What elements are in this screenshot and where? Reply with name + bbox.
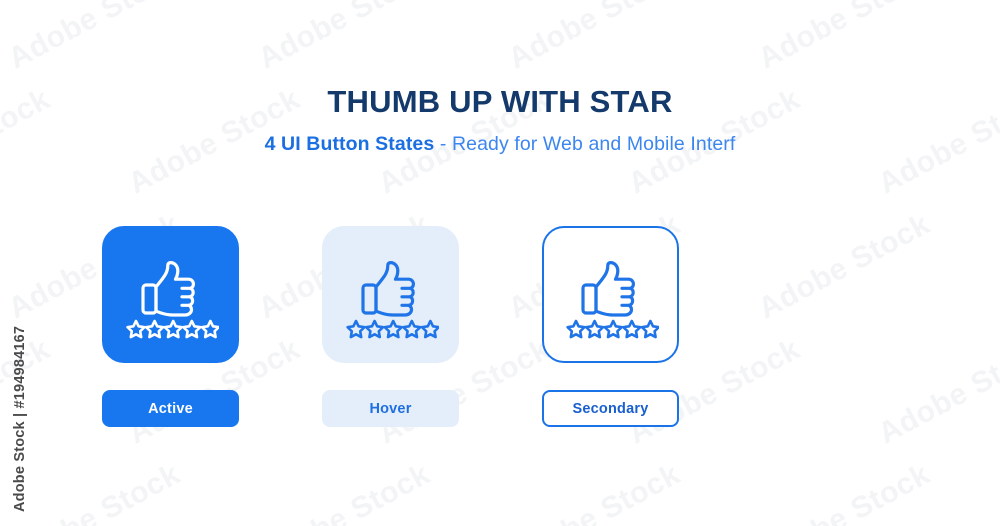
icon-card-hover[interactable]: [322, 226, 459, 363]
subtitle-strong: 4 UI Button States: [265, 133, 435, 155]
thumb-up-with-stars-icon: [343, 249, 439, 341]
state-button-label: Secondary: [573, 401, 649, 417]
state-button-active[interactable]: Active: [102, 390, 239, 427]
page-root: THUMB UP WITH STAR 4 UI Button States - …: [0, 0, 1000, 526]
state-button-label: Active: [148, 401, 193, 417]
state-column-active: Active: [102, 226, 239, 363]
page-title: THUMB UP WITH STAR: [0, 84, 1000, 120]
subtitle-rest: - Ready for Web and Mobile Interf: [434, 133, 735, 155]
state-button-hover[interactable]: Hover: [322, 390, 459, 427]
state-column-hover: Hover: [322, 226, 459, 363]
state-button-label: Hover: [369, 401, 411, 417]
thumb-up-with-stars-icon: [123, 249, 219, 341]
thumb-up-with-stars-icon: [563, 249, 659, 341]
icon-card-active[interactable]: [102, 226, 239, 363]
page-subtitle: 4 UI Button States - Ready for Web and M…: [0, 133, 1000, 156]
state-button-secondary[interactable]: Secondary: [542, 390, 679, 427]
state-column-secondary: Secondary: [542, 226, 679, 363]
icon-card-secondary[interactable]: [542, 226, 679, 363]
